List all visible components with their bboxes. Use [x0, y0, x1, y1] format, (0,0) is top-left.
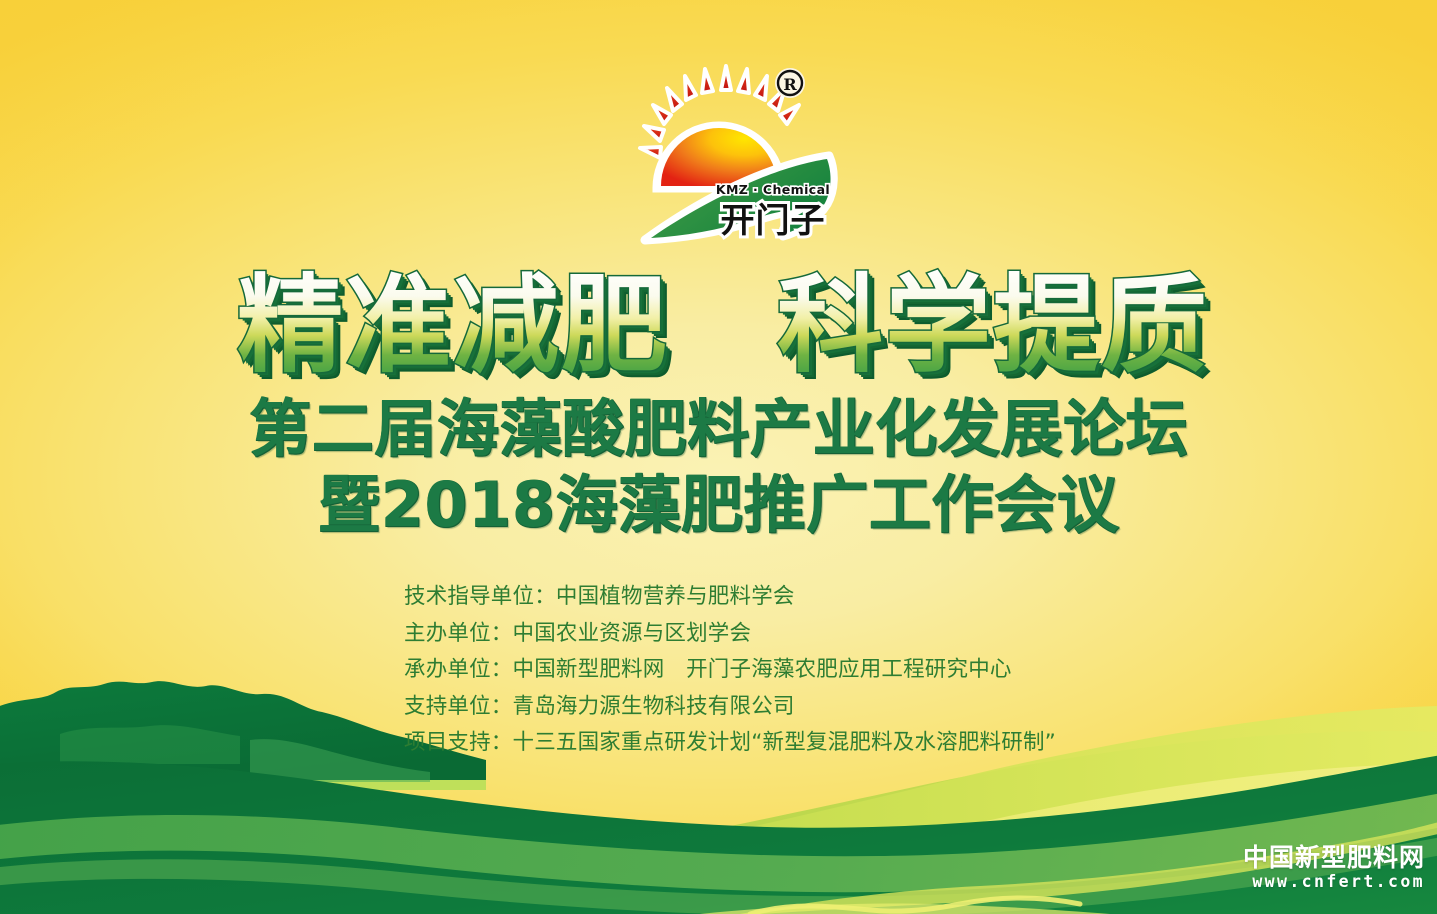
subtitle-block: 第二届海藻酸肥料产业化发展论坛 暨2018海藻肥推广工作会议 — [0, 398, 1437, 536]
brand-latin-text: KMZ · Chemical — [716, 182, 830, 197]
svg-text:R: R — [783, 75, 797, 94]
credit-technical-guidance: 技术指导单位：中国植物营养与肥料学会 — [404, 586, 1056, 608]
credit-project-support: 项目支持：十三五国家重点研发计划“新型复混肥料及水溶肥料研制” — [404, 732, 1056, 754]
watermark-url: www.cnfert.com — [1243, 872, 1425, 892]
headline-text: 精准减肥 科学提质 — [237, 264, 1209, 387]
credit-host: 承办单位：中国新型肥料网 开门子海藻农肥应用工程研究中心 — [404, 659, 1056, 681]
watermark-site-name: 中国新型肥料网 — [1243, 844, 1425, 872]
company-logo: R KMZ · Chemical 开门子 — [623, 60, 838, 248]
credits-block: 技术指导单位：中国植物营养与肥料学会 主办单位：中国农业资源与区划学会 承办单位… — [404, 586, 1056, 754]
conference-poster: R KMZ · Chemical 开门子 精准减肥 — [0, 0, 1437, 914]
watermark: 中国新型肥料网 www.cnfert.com — [1243, 844, 1425, 892]
credit-organizer: 主办单位：中国农业资源与区划学会 — [404, 623, 1056, 645]
registered-trademark-icon: R — [775, 68, 805, 98]
credit-supporter: 支持单位：青岛海力源生物科技有限公司 — [404, 696, 1056, 718]
subtitle-line-1: 第二届海藻酸肥料产业化发展论坛 — [0, 398, 1437, 460]
subtitle-line-2: 暨2018海藻肥推广工作会议 — [0, 474, 1437, 536]
brand-cn-text: 开门子 — [721, 201, 826, 241]
headline: 精准减肥 科学提质 精准减肥 科学提质 精准减肥 科学提质 精准减肥 科学提质 — [0, 262, 1437, 392]
